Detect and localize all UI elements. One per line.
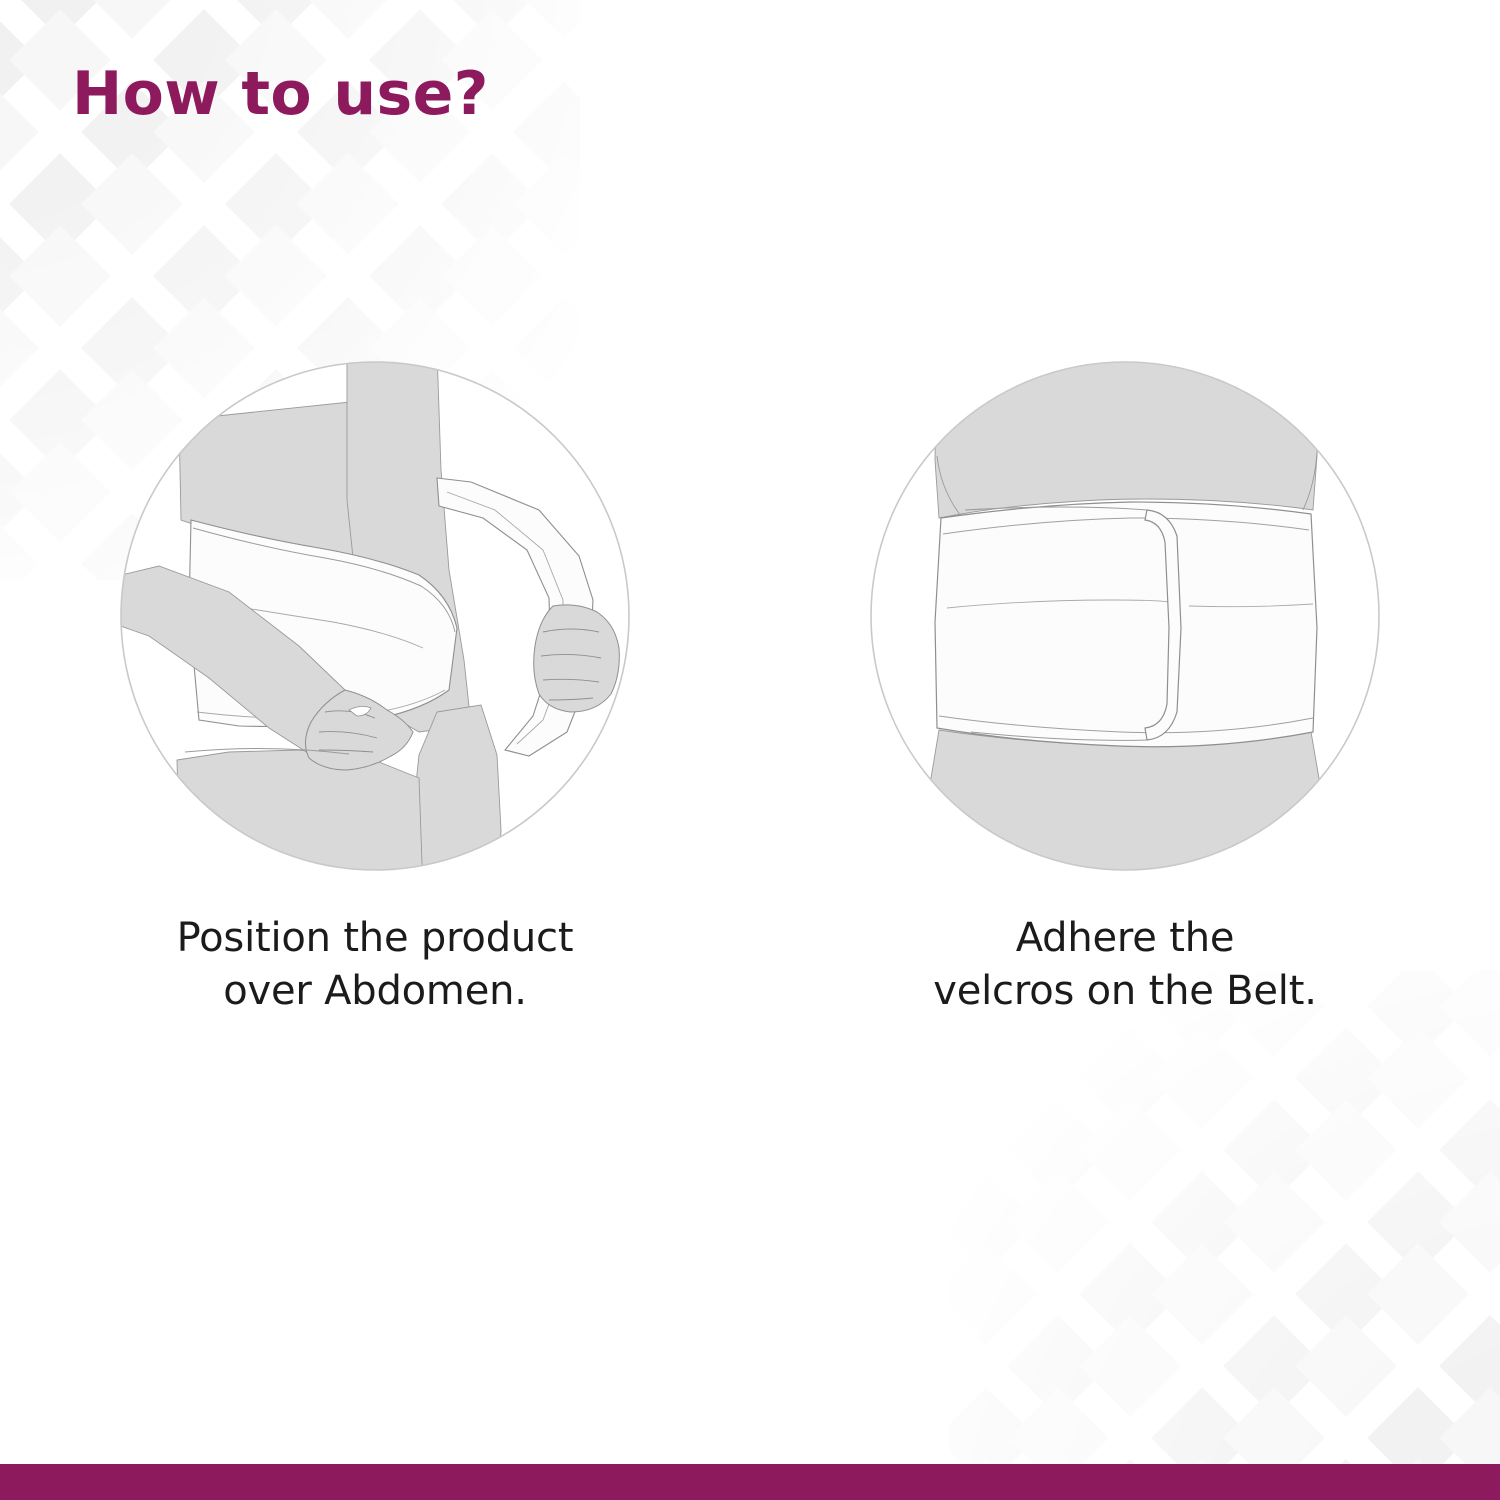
diamond-tile xyxy=(1439,1171,1500,1273)
diamond-tile xyxy=(81,0,183,39)
diamond-tile xyxy=(1223,1171,1325,1273)
diamond-tile xyxy=(1367,1243,1469,1345)
diamond-tile xyxy=(1151,1243,1253,1345)
position-belt-over-abdomen-illustration xyxy=(119,360,631,872)
diamond-tile xyxy=(1007,1171,1109,1273)
diamond-tile xyxy=(1223,1099,1325,1201)
adhere-velcro-on-belt-illustration xyxy=(869,360,1381,872)
diamond-tile xyxy=(9,0,111,39)
steps-row: Position the product over Abdomen. xyxy=(0,360,1500,1018)
diamond-tile xyxy=(935,1027,1037,1129)
step-2-caption: Adhere the velcros on the Belt. xyxy=(933,912,1316,1018)
diamond-tile xyxy=(9,225,111,327)
diamond-tile xyxy=(441,153,543,255)
diamond-tile xyxy=(935,1243,1037,1345)
diamond-pattern-bottom-right xyxy=(950,970,1500,1500)
diamond-tile xyxy=(1079,1099,1181,1201)
diamond-tile xyxy=(1295,1099,1397,1201)
diamond-tile xyxy=(1439,1315,1500,1417)
diamond-tile xyxy=(1007,1099,1109,1201)
diamond-tile xyxy=(1079,1027,1181,1129)
diamond-tile xyxy=(1007,1315,1109,1417)
diamond-tile xyxy=(513,0,615,39)
diamond-tile xyxy=(1295,1027,1397,1129)
diamond-tile xyxy=(1439,1099,1500,1201)
diamond-tile xyxy=(585,225,687,327)
diamond-tile xyxy=(935,1171,1037,1273)
diamond-tile xyxy=(1151,1027,1253,1129)
diamond-tile xyxy=(1151,1171,1253,1273)
diamond-tile xyxy=(0,81,39,183)
diamond-tile xyxy=(1079,1243,1181,1345)
diamond-tile xyxy=(1367,1027,1469,1129)
diamond-tile xyxy=(153,225,255,327)
diamond-tile xyxy=(1367,1171,1469,1273)
diamond-tile xyxy=(585,9,687,111)
diamond-tile xyxy=(225,225,327,327)
diamond-tile xyxy=(81,153,183,255)
diamond-tile xyxy=(225,0,327,39)
diamond-tile xyxy=(0,9,39,111)
diamond-tile xyxy=(9,153,111,255)
diamond-tile xyxy=(441,0,543,39)
diamond-tile xyxy=(297,0,399,39)
diamond-tile xyxy=(225,153,327,255)
diamond-tile xyxy=(1295,1315,1397,1417)
diamond-tile xyxy=(513,153,615,255)
diamond-tile xyxy=(1079,1315,1181,1417)
diamond-tile xyxy=(0,225,39,327)
step-1-caption: Position the product over Abdomen. xyxy=(177,912,574,1018)
diamond-tile xyxy=(513,81,615,183)
how-to-use-panel: How to use? xyxy=(0,0,1500,1500)
diamond-tile xyxy=(297,153,399,255)
diamond-tile xyxy=(1223,1315,1325,1417)
diamond-tile xyxy=(441,225,543,327)
diamond-tile xyxy=(369,225,471,327)
step-1: Position the product over Abdomen. xyxy=(0,360,750,1018)
step-2: Adhere the velcros on the Belt. xyxy=(750,360,1500,1018)
page-title: How to use? xyxy=(72,62,489,127)
diamond-tile xyxy=(585,81,687,183)
diamond-tile xyxy=(1295,1243,1397,1345)
bottom-brand-bar xyxy=(0,1464,1500,1500)
